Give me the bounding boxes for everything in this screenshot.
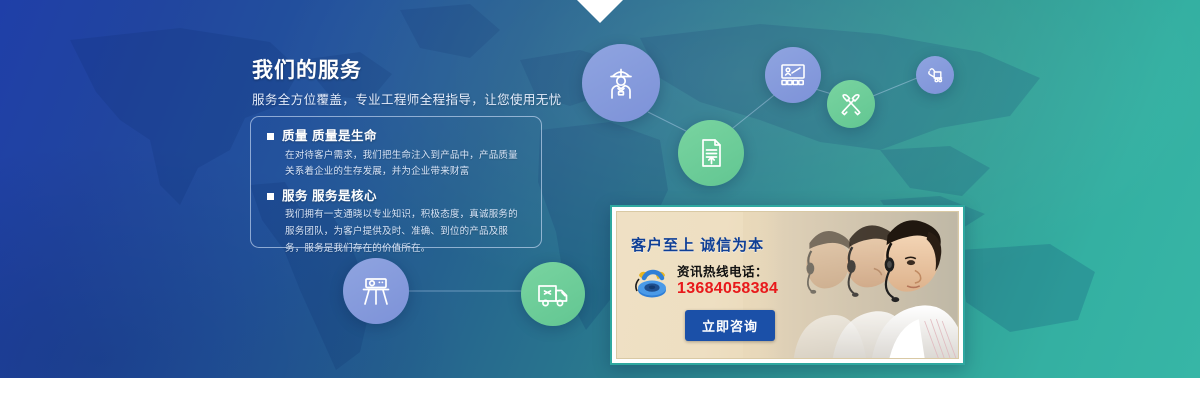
- hotline-label: 资讯热线电话：: [677, 265, 778, 279]
- service-point-body: 在对待客户需求，我们把生命注入到产品中，产品质量关系着企业的生存发展，并为企业带…: [285, 148, 525, 181]
- square-bullet-icon: [267, 133, 274, 140]
- square-bullet-icon: [267, 193, 274, 200]
- service-heading-block: 我们的服务 服务全方位覆盖，专业工程师全程指导，让您使用无忧: [252, 58, 552, 110]
- node-tools[interactable]: [827, 80, 875, 128]
- service-point-service: 服务 服务是核心 我们拥有一支通晓以专业知识，积极态度，真诚服务的服务团队，为客…: [267, 190, 525, 257]
- hammer-wrench-icon: [838, 91, 864, 117]
- engineer-helmet-icon: [601, 63, 641, 103]
- delivery-truck-icon: [535, 276, 571, 312]
- hotline-row: 资讯热线电话： 13684058384: [631, 265, 831, 299]
- survey-tripod-icon: [358, 273, 394, 309]
- page-subtitle: 服务全方位覆盖，专业工程师全程指导，让您使用无忧: [252, 92, 552, 110]
- telephone-icon: [631, 265, 671, 299]
- hotline-number: 13684058384: [677, 280, 778, 298]
- hand-cart-icon: [925, 65, 946, 86]
- node-aftersale[interactable]: [916, 56, 954, 94]
- node-delivery[interactable]: [521, 262, 585, 326]
- hero-gradient-band: 我们的服务 服务全方位覆盖，专业工程师全程指导，让您使用无忧 质量 质量是生命 …: [0, 0, 1200, 378]
- service-point-quality: 质量 质量是生命 在对待客户需求，我们把生命注入到产品中，产品质量关系着企业的生…: [267, 130, 525, 181]
- service-points-panel: 质量 质量是生命 在对待客户需求，我们把生命注入到产品中，产品质量关系着企业的生…: [250, 116, 542, 248]
- service-banner: 我们的服务 服务全方位覆盖，专业工程师全程指导，让您使用无忧 质量 质量是生命 …: [0, 0, 1200, 400]
- node-document[interactable]: [678, 120, 744, 186]
- service-point-title: 服务 服务是核心: [282, 190, 377, 203]
- page-title: 我们的服务: [252, 58, 552, 83]
- document-upload-icon: [694, 136, 728, 170]
- service-point-body: 我们拥有一支通晓以专业知识，积极态度，真诚服务的服务团队，为客户提供及时、准确、…: [285, 207, 525, 257]
- service-point-header: 质量 质量是生命: [267, 130, 525, 143]
- training-board-icon: [778, 60, 808, 90]
- chevron-down-icon: [570, 0, 630, 29]
- node-survey[interactable]: [343, 258, 409, 324]
- service-point-header: 服务 服务是核心: [267, 190, 525, 203]
- contact-card-text: 客户至上 诚信为本: [631, 234, 831, 299]
- consult-now-button[interactable]: 立即咨询: [685, 310, 775, 341]
- node-engineer[interactable]: [582, 44, 660, 122]
- node-training[interactable]: [765, 47, 821, 103]
- service-point-title: 质量 质量是生命: [282, 130, 377, 143]
- contact-card-inner: 客户至上 诚信为本: [616, 211, 959, 359]
- card-slogan: 客户至上 诚信为本: [631, 234, 831, 255]
- contact-card: 客户至上 诚信为本: [610, 205, 965, 365]
